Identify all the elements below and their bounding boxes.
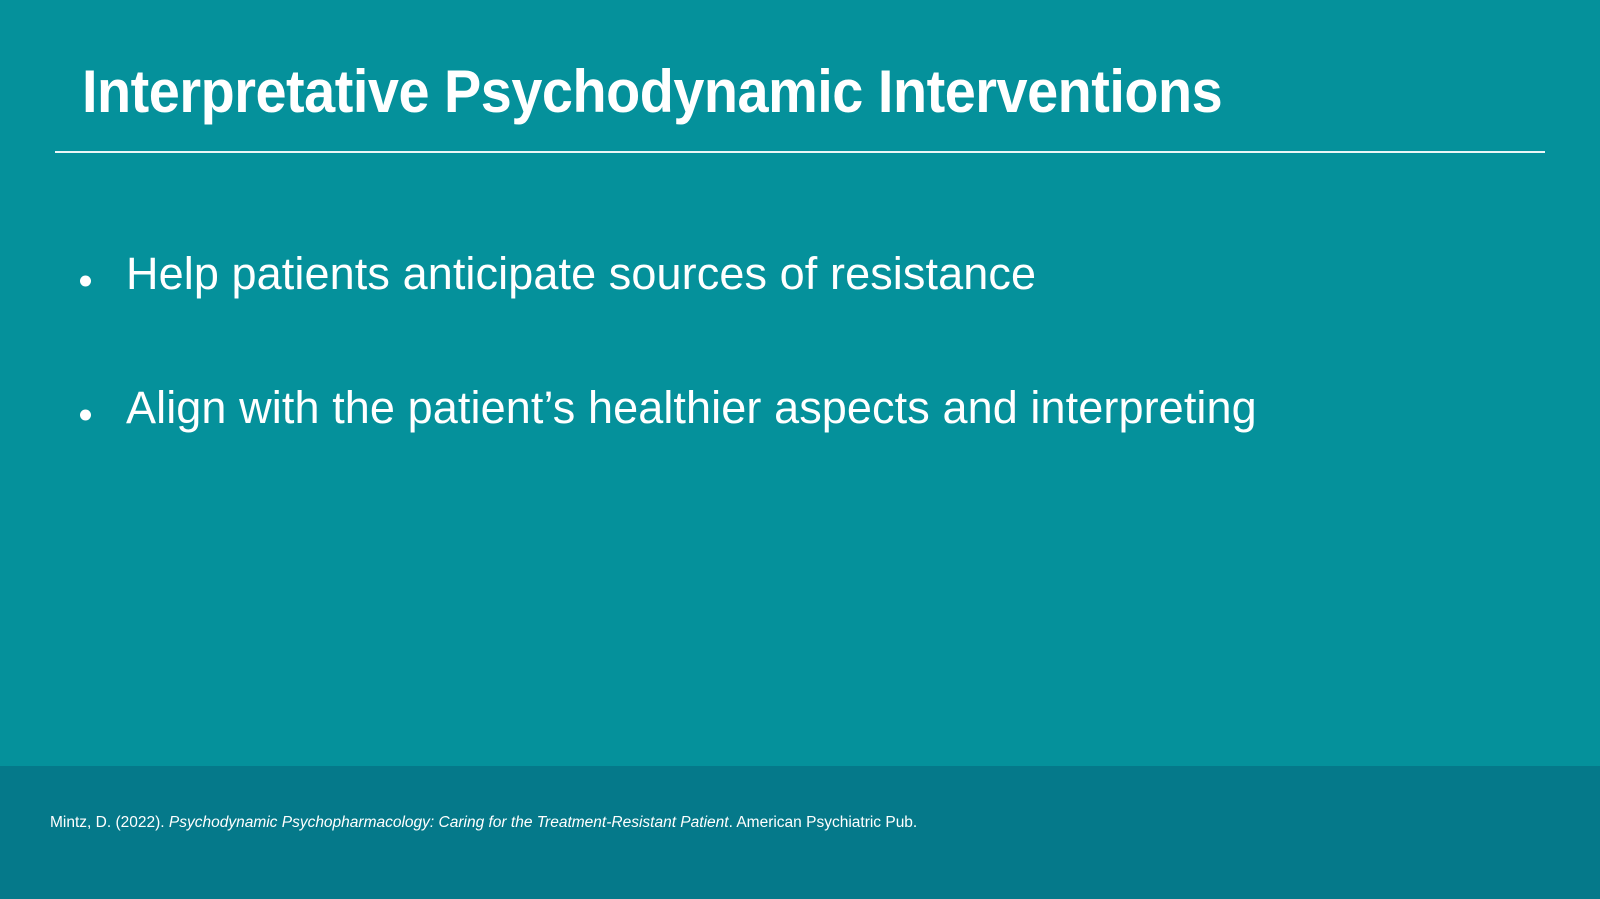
bullet-list: Help patients anticipate sources of resi… — [0, 246, 1450, 514]
presentation-slide: Interpretative Psychodynamic Interventio… — [0, 0, 1600, 899]
citation-author: Mintz, D. (2022). — [50, 814, 169, 831]
bullet-text: Align with the patient’s healthier aspec… — [126, 380, 1450, 436]
list-item: Align with the patient’s healthier aspec… — [0, 380, 1450, 450]
bullet-dot-icon — [80, 410, 91, 421]
bullet-text: Help patients anticipate sources of resi… — [126, 246, 1450, 302]
citation-book-title: Psychodynamic Psychopharmacology: Caring… — [169, 814, 729, 831]
bullet-dot-icon — [80, 276, 91, 287]
citation-text: Mintz, D. (2022). Psychodynamic Psychoph… — [50, 814, 917, 833]
title-block: Interpretative Psychodynamic Interventio… — [0, 0, 1600, 170]
page-title: Interpretative Psychodynamic Interventio… — [82, 62, 1222, 122]
footer-band: Mintz, D. (2022). Psychodynamic Psychoph… — [0, 766, 1600, 899]
citation-publisher: . American Psychiatric Pub. — [729, 814, 918, 831]
title-divider — [55, 151, 1545, 153]
list-item: Help patients anticipate sources of resi… — [0, 246, 1450, 316]
